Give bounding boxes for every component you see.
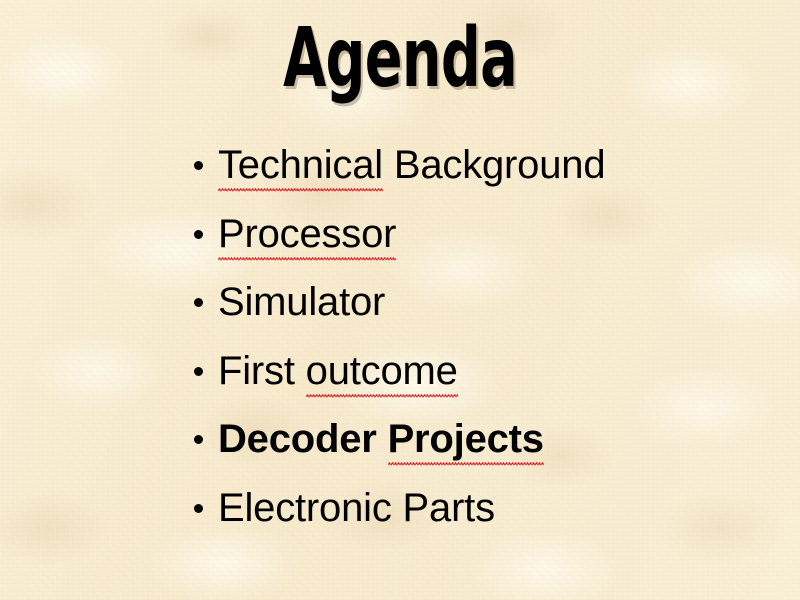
spellcheck-misspelled-word: Processor [218,214,396,254]
agenda-bullet-item[interactable]: First outcome [192,337,792,406]
spellcheck-misspelled-word: Technical [218,145,383,185]
spellcheck-misspelled-word: Projects [388,419,544,459]
bullet-dot-icon [194,435,203,444]
bullet-dot-icon [194,230,203,239]
agenda-bullet-item[interactable]: Technical Background [192,131,792,200]
slide-title-block: Agenda [0,18,800,100]
agenda-bullet-list: Technical BackgroundProcessorSimulatorFi… [192,131,792,542]
bullet-text-segment: First [218,349,306,393]
bullet-text-segment: Background [383,143,605,187]
agenda-bullet-label: First outcome [218,351,458,391]
agenda-bullet-item[interactable]: Processor [192,200,792,269]
slide-content: Agenda Technical BackgroundProcessorSimu… [0,0,800,600]
agenda-bullet-item[interactable]: Electronic Parts [192,474,792,543]
agenda-bullet-item[interactable]: Simulator [192,268,792,337]
presentation-slide: Agenda Technical BackgroundProcessorSimu… [0,0,800,600]
agenda-bullet-item[interactable]: Decoder Projects [192,405,792,474]
bullet-text-segment: Simulator [218,280,385,324]
agenda-bullet-label: Simulator [218,282,385,322]
bullet-dot-icon [194,298,203,307]
spellcheck-misspelled-word: outcome [306,351,458,391]
bullet-text-segment: Decoder [218,417,388,461]
agenda-bullet-label: Processor [218,214,396,254]
bullet-text-segment: Electronic Parts [218,486,495,530]
bullet-dot-icon [194,161,203,170]
page-title: Agenda [283,18,517,100]
agenda-bullet-label: Technical Background [218,145,605,185]
agenda-bullet-label: Decoder Projects [218,419,544,459]
agenda-bullet-label: Electronic Parts [218,488,495,528]
bullet-dot-icon [194,504,203,513]
bullet-dot-icon [194,367,203,376]
